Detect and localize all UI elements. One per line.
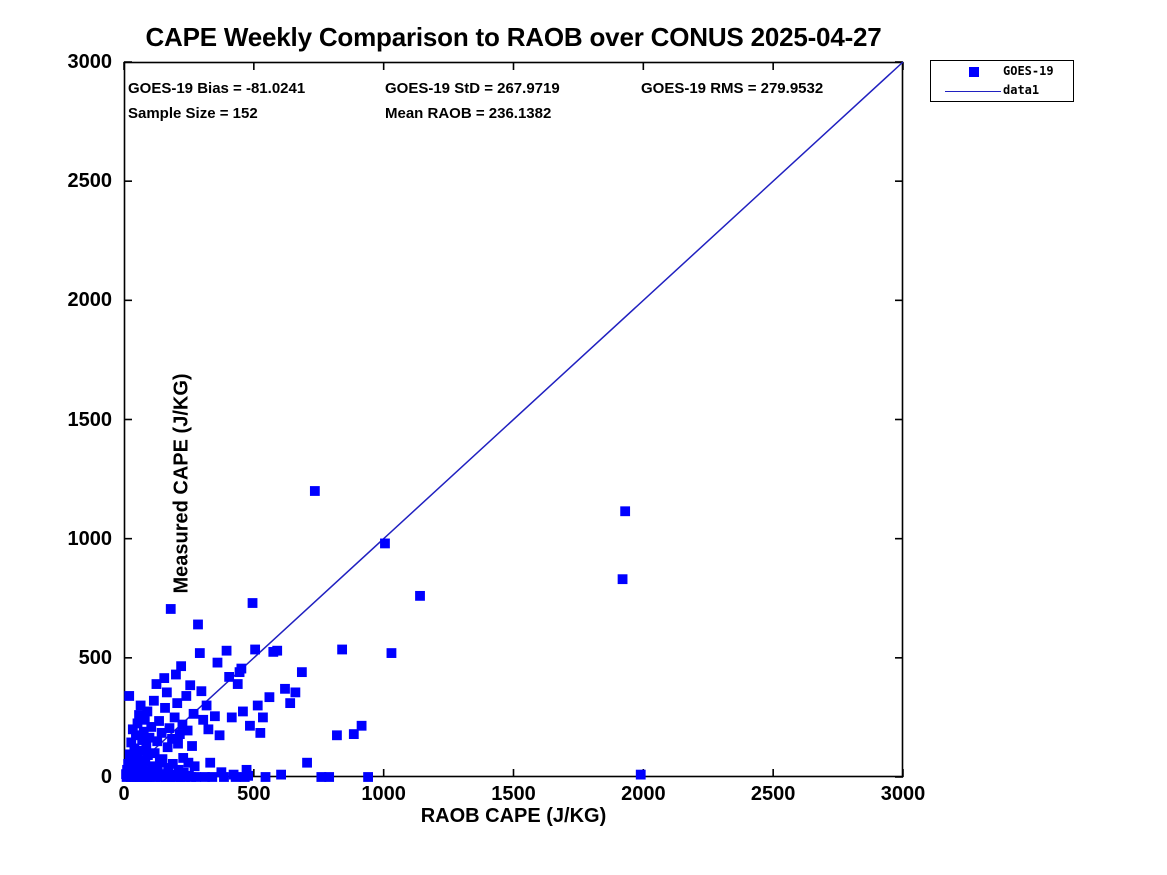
stat-std: GOES-19 StD = 267.9719 — [385, 80, 560, 97]
y-tick-label: 3000 — [2, 51, 112, 74]
plot-canvas — [124, 62, 903, 777]
legend-marker-square-icon — [969, 67, 979, 77]
legend-entry-goes19[interactable]: GOES-19 — [931, 62, 1075, 82]
x-axis-label: RAOB CAPE (J/KG) — [124, 805, 903, 828]
x-tick-label: 1000 — [334, 783, 434, 806]
y-tick-label: 2500 — [2, 170, 112, 193]
x-tick-label: 1500 — [464, 783, 564, 806]
y-tick-label: 1000 — [2, 528, 112, 551]
stat-sample-size: Sample Size = 152 — [128, 105, 258, 122]
x-tick-label: 2500 — [723, 783, 823, 806]
legend-entry-data1[interactable]: data1 — [931, 81, 1075, 101]
x-tick-label: 2000 — [593, 783, 693, 806]
page-title: CAPE Weekly Comparison to RAOB over CONU… — [124, 22, 903, 53]
scatter-points-goes19 — [122, 487, 646, 782]
chart-figure: CAPE Weekly Comparison to RAOB over CONU… — [0, 0, 1167, 875]
y-axis-label: Measured CAPE (J/KG) — [171, 374, 194, 594]
stat-bias: GOES-19 Bias = -81.0241 — [128, 80, 305, 97]
y-tick-label: 2000 — [2, 289, 112, 312]
legend[interactable]: GOES-19 data1 — [930, 60, 1074, 102]
legend-label-data1: data1 — [1003, 83, 1039, 97]
plot-area: Measured CAPE (J/KG) — [124, 62, 903, 777]
y-tick-label: 500 — [2, 647, 112, 670]
stat-rms: GOES-19 RMS = 279.9532 — [641, 80, 823, 97]
legend-line-icon — [945, 91, 1001, 92]
stat-mean-raob: Mean RAOB = 236.1382 — [385, 105, 551, 122]
x-tick-label: 500 — [204, 783, 304, 806]
x-tick-label: 0 — [74, 783, 174, 806]
x-tick-label: 3000 — [853, 783, 953, 806]
y-tick-label: 1500 — [2, 409, 112, 432]
legend-label-goes19: GOES-19 — [1003, 64, 1054, 78]
